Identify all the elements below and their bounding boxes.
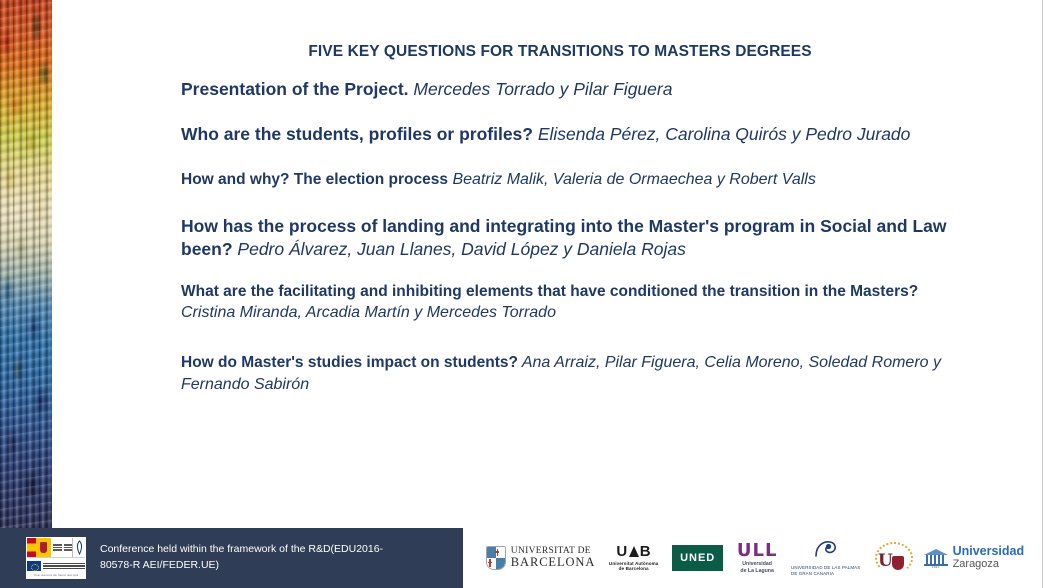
us-seal-icon: U <box>874 542 910 574</box>
question-item: Who are the students, profiles or profil… <box>181 123 953 146</box>
question-item: Presentation of the Project. Mercedes To… <box>181 78 953 101</box>
question-text: How do Master's studies impact on studen… <box>181 354 518 371</box>
zaragoza-building-icon: 1542 <box>924 547 948 569</box>
ministry-wordmark <box>51 538 62 557</box>
gobierno-de-espana-ministerio-logo: Una manera de hacer Europa <box>26 537 86 579</box>
question-text: How and why? The election process <box>181 171 448 188</box>
ministry-logo-row <box>27 538 85 557</box>
presentation-slide: FIVE KEY QUESTIONS FOR TRANSITIONS TO MA… <box>0 0 1043 588</box>
zaragoza-wordmark: Universidad Zaragoza <box>953 545 1025 570</box>
ull-sub2: de La Laguna <box>737 568 778 575</box>
spain-flag-icon <box>27 538 36 557</box>
zaragoza-line2: Zaragoza <box>953 559 1025 571</box>
ulpgc-sub2: DE GRAN CANARIA <box>791 571 860 577</box>
question-item: What are the facilitating and inhibiting… <box>181 282 953 325</box>
uab-logo: UB Universitat Autònoma de Barcelona <box>609 544 659 571</box>
question-authors: Mercedes Torrado y Pilar Figuera <box>409 79 673 99</box>
decorative-art-strip <box>0 0 52 528</box>
slide-footer: Una manera de hacer Europa Conference he… <box>0 528 1043 588</box>
ulpgc-symbol-icon <box>791 539 860 565</box>
question-text: What are the facilitating and inhibiting… <box>181 283 918 300</box>
uab-triangle-icon <box>629 546 639 557</box>
uab-mark-right: B <box>640 543 651 560</box>
ull-mark: ULL <box>737 541 778 561</box>
feder-wordmark <box>41 563 85 570</box>
question-authors: Pedro Álvarez, Juan Llanes, David López … <box>233 239 686 259</box>
zaragoza-line1: Universidad <box>953 545 1025 559</box>
ministry-wordmark-secondary <box>62 538 73 557</box>
question-authors: Cristina Miranda, Arcadia Martín y Merce… <box>181 304 556 321</box>
footer-logos-section: UNIVERSITAT DE BARCELONA UB Universitat … <box>463 528 1043 588</box>
question-item: How do Master's studies impact on studen… <box>181 352 953 396</box>
ull-logo: ULL Universidad de La Laguna <box>737 541 778 575</box>
universidad-de-zaragoza-logo: 1542 Universidad Zaragoza <box>924 545 1025 570</box>
ulpgc-logo: UNIVERSIDAD DE LAS PALMAS DE GRAN CANARI… <box>791 539 860 577</box>
uned-mark: UNED <box>672 545 723 571</box>
spain-coat-of-arms-icon <box>36 538 51 557</box>
universitat-de-barcelona-logo: UNIVERSITAT DE BARCELONA <box>486 546 596 570</box>
uab-mark-left: U <box>616 543 627 560</box>
universidad-de-sevilla-logo: U <box>874 542 910 574</box>
uab-sub2: de Barcelona <box>609 566 659 571</box>
question-authors: Elisenda Pérez, Carolina Quirós y Pedro … <box>533 124 910 144</box>
funding-note-text: Conference held within the framework of … <box>100 542 390 574</box>
european-union-flag-icon <box>27 561 41 571</box>
uab-mark: UB <box>609 544 659 561</box>
art-wave-layer <box>0 0 52 528</box>
question-text: Who are the students, profiles or profil… <box>181 124 533 144</box>
ub-wordmark-line2: BARCELONA <box>511 556 596 569</box>
question-text: Presentation of the Project. <box>181 79 409 99</box>
question-item: How and why? The election process Beatri… <box>181 169 953 191</box>
ub-wordmark: UNIVERSITAT DE BARCELONA <box>511 546 596 569</box>
zaragoza-year: 1542 <box>924 565 948 569</box>
uned-logo: UNED <box>672 545 723 571</box>
us-mark: U <box>878 551 893 571</box>
feder-logo-row <box>27 557 85 573</box>
ub-shield-icon <box>486 546 506 570</box>
footer-funding-section: Una manera de hacer Europa Conference he… <box>0 528 463 588</box>
question-list: Presentation of the Project. Mercedes To… <box>181 78 953 396</box>
question-authors: Beatriz Malik, Valeria de Ormaechea y Ro… <box>448 171 816 188</box>
question-item: How has the process of landing and integ… <box>181 215 953 262</box>
ull-sub1: Universidad <box>737 561 778 568</box>
aei-icon <box>72 538 85 557</box>
slide-title: FIVE KEY QUESTIONS FOR TRANSITIONS TO MA… <box>180 43 940 61</box>
feder-caption: Una manera de hacer Europa <box>27 573 85 578</box>
